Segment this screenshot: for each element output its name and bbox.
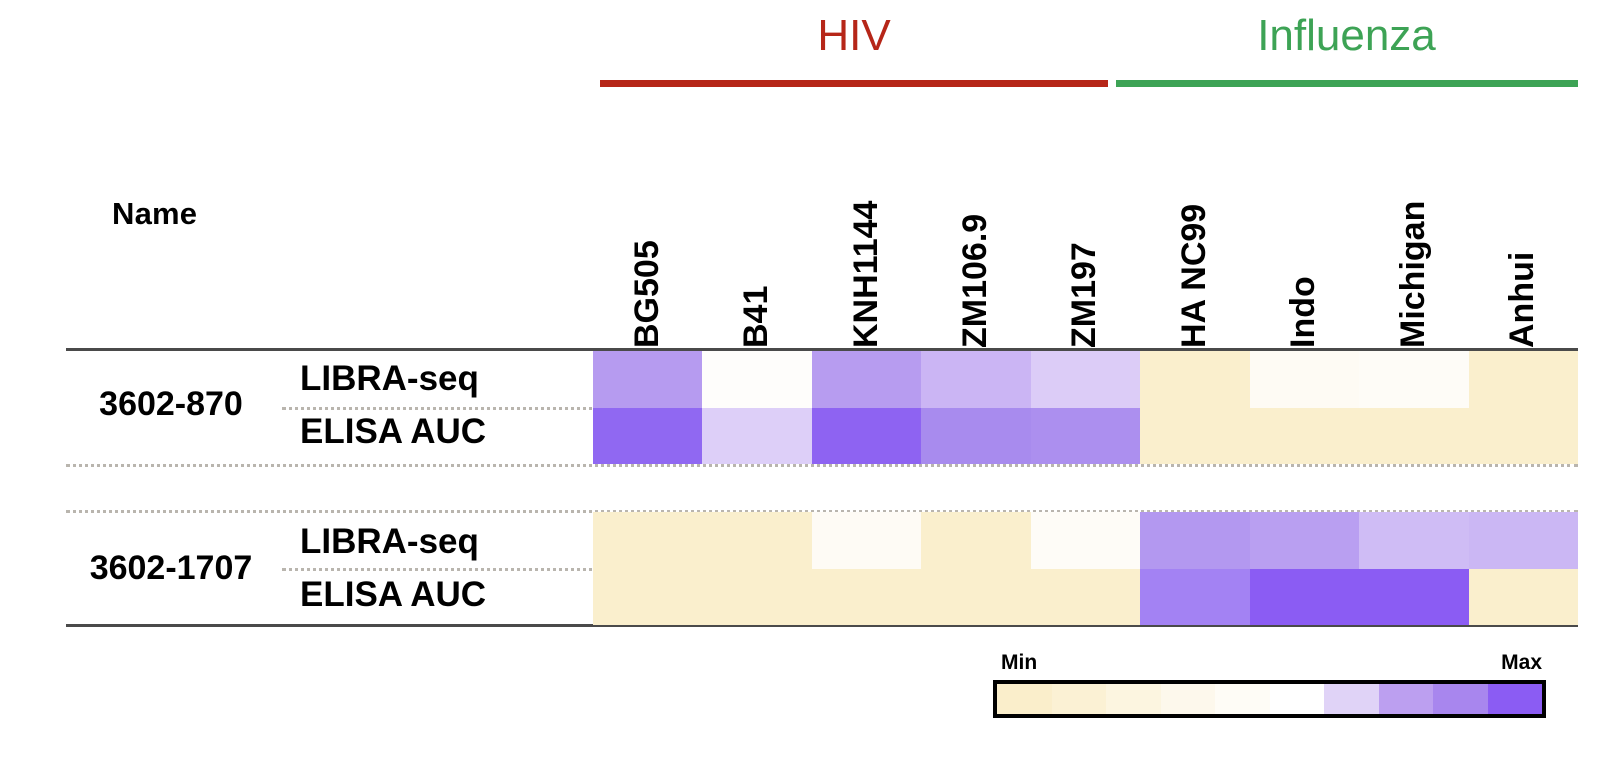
column-label-ha-nc99: HA NC99	[1140, 140, 1249, 348]
column-label-bg505: BG505	[593, 140, 702, 348]
heat-cell-3602-870-ELISA-AUC-Anhui	[1469, 408, 1578, 464]
heat-cell-3602-1707-LIBRA-seq-Indo	[1250, 512, 1359, 569]
heat-cell-3602-1707-ELISA-AUC-Anhui	[1469, 569, 1578, 625]
legend-swatch-1	[1052, 684, 1107, 714]
heat-cell-3602-870-LIBRA-seq-KNH1144	[812, 351, 921, 408]
heat-cell-3602-870-LIBRA-seq-ZM106.9	[921, 351, 1030, 408]
legend-swatch-4	[1215, 684, 1270, 714]
heat-cell-3602-1707-ELISA-AUC-Michigan	[1359, 569, 1468, 625]
group-rule-influenza	[1116, 80, 1578, 87]
column-label-indo: Indo	[1250, 140, 1359, 348]
name-column-header: Name	[112, 196, 197, 232]
heat-cell-3602-1707-ELISA-AUC-ZM197	[1031, 569, 1140, 625]
heat-cell-3602-1707-LIBRA-seq-BG505	[593, 512, 702, 569]
heat-cell-3602-870-LIBRA-seq-Indo	[1250, 351, 1359, 408]
column-label-zm106-9: ZM106.9	[921, 140, 1030, 348]
heat-cell-3602-870-LIBRA-seq-Anhui	[1469, 351, 1578, 408]
legend-swatch-7	[1379, 684, 1434, 714]
row-name-3602-1707: 3602-1707	[66, 549, 276, 588]
heat-cell-3602-1707-LIBRA-seq-Michigan	[1359, 512, 1468, 569]
heat-cell-3602-1707-LIBRA-seq-B41	[702, 512, 811, 569]
legend-gradient-bar	[993, 680, 1546, 718]
group-header-hiv: HIV	[593, 14, 1115, 58]
row-0-bottom-rule	[66, 464, 1578, 467]
heat-strip-row1-elisa	[593, 569, 1578, 625]
heat-cell-3602-870-ELISA-AUC-HA NC99	[1140, 408, 1249, 464]
heat-strip-row1-libraseq	[593, 512, 1578, 569]
column-label-anhui: Anhui	[1469, 140, 1578, 348]
legend-swatch-8	[1433, 684, 1488, 714]
heat-cell-3602-870-ELISA-AUC-Indo	[1250, 408, 1359, 464]
column-label-zm197: ZM197	[1031, 140, 1140, 348]
heat-cell-3602-1707-LIBRA-seq-ZM106.9	[921, 512, 1030, 569]
column-label-b41: B41	[702, 140, 811, 348]
heat-cell-3602-1707-LIBRA-seq-Anhui	[1469, 512, 1578, 569]
heat-cell-3602-870-LIBRA-seq-Michigan	[1359, 351, 1468, 408]
legend-swatch-9	[1488, 684, 1543, 714]
legend-swatch-3	[1161, 684, 1216, 714]
heat-cell-3602-870-ELISA-AUC-ZM106.9	[921, 408, 1030, 464]
heat-strip-row0-libraseq	[593, 351, 1578, 408]
legend-min-label: Min	[1001, 651, 1037, 675]
heat-cell-3602-870-LIBRA-seq-HA NC99	[1140, 351, 1249, 408]
heat-strip-row0-elisa	[593, 408, 1578, 464]
column-label-track: BG505 B41 KNH1144 ZM106.9 ZM197 HA NC99 …	[593, 140, 1578, 348]
legend-swatch-5	[1270, 684, 1325, 714]
legend-swatch-6	[1324, 684, 1379, 714]
heat-cell-3602-870-ELISA-AUC-ZM197	[1031, 408, 1140, 464]
heat-cell-3602-1707-LIBRA-seq-ZM197	[1031, 512, 1140, 569]
heat-cell-3602-870-ELISA-AUC-KNH1144	[812, 408, 921, 464]
assay-label-row0-libraseq: LIBRA-seq	[300, 361, 580, 396]
group-rule-hiv	[600, 80, 1108, 87]
heat-cell-3602-1707-LIBRA-seq-HA NC99	[1140, 512, 1249, 569]
legend-max-label: Max	[1501, 651, 1542, 675]
heat-cell-3602-870-LIBRA-seq-B41	[702, 351, 811, 408]
heat-cell-3602-1707-ELISA-AUC-ZM106.9	[921, 569, 1030, 625]
heat-cell-3602-1707-ELISA-AUC-KNH1144	[812, 569, 921, 625]
heat-cell-3602-870-LIBRA-seq-BG505	[593, 351, 702, 408]
assay-label-row0-elisa: ELISA AUC	[300, 414, 580, 449]
heat-cell-3602-1707-ELISA-AUC-HA NC99	[1140, 569, 1249, 625]
heat-cell-3602-1707-ELISA-AUC-Indo	[1250, 569, 1359, 625]
heat-cell-3602-870-ELISA-AUC-B41	[702, 408, 811, 464]
heat-cell-3602-870-LIBRA-seq-ZM197	[1031, 351, 1140, 408]
heatmap-figure: HIV Influenza Name BG505 B41 KNH1144 ZM1…	[0, 0, 1600, 772]
heat-cell-3602-1707-ELISA-AUC-BG505	[593, 569, 702, 625]
heat-cell-3602-870-ELISA-AUC-Michigan	[1359, 408, 1468, 464]
heat-cell-3602-1707-LIBRA-seq-KNH1144	[812, 512, 921, 569]
assay-label-row1-libraseq: LIBRA-seq	[300, 524, 580, 559]
column-label-knh1144: KNH1144	[812, 140, 921, 348]
group-header-influenza: Influenza	[1115, 14, 1578, 58]
column-label-michigan: Michigan	[1359, 140, 1468, 348]
legend-swatch-0	[997, 684, 1052, 714]
legend-swatch-2	[1106, 684, 1161, 714]
heat-cell-3602-1707-ELISA-AUC-B41	[702, 569, 811, 625]
assay-label-row1-elisa: ELISA AUC	[300, 577, 580, 612]
heat-cell-3602-870-ELISA-AUC-BG505	[593, 408, 702, 464]
row-name-3602-870: 3602-870	[66, 385, 276, 424]
